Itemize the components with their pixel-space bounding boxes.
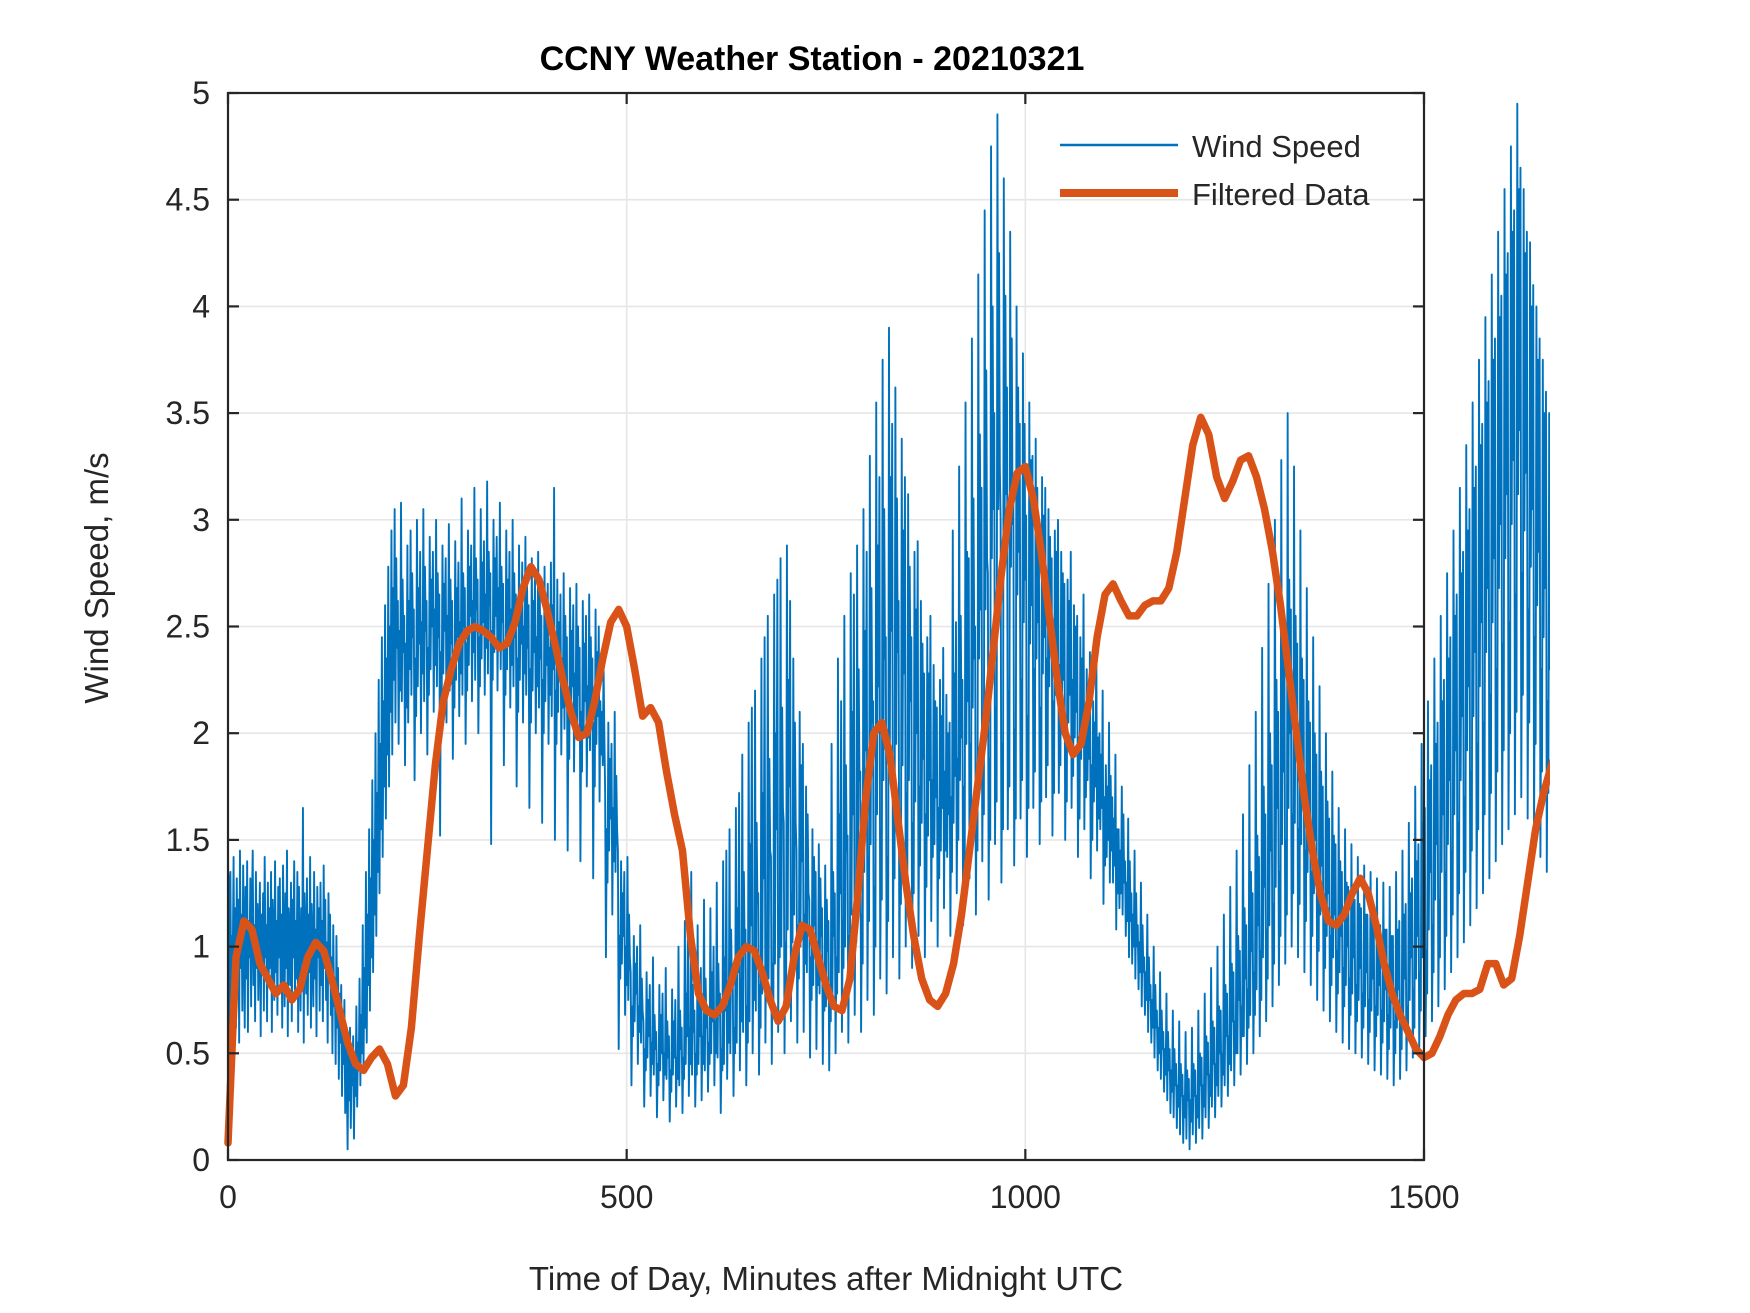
x-tick-label: 500 bbox=[600, 1179, 653, 1215]
y-axis-label: Wind Speed, m/s bbox=[78, 452, 115, 703]
wind-speed-chart: 00.511.522.533.544.55050010001500 Wind S… bbox=[0, 0, 1550, 1313]
y-tick-label: 4.5 bbox=[166, 182, 210, 218]
x-tick-label: 1500 bbox=[1388, 1179, 1459, 1215]
y-tick-label: 2 bbox=[192, 715, 210, 751]
figure-page: 00.511.522.533.544.55050010001500 Wind S… bbox=[0, 0, 1750, 1313]
y-tick-label: 0.5 bbox=[166, 1035, 210, 1071]
x-tick-label: 0 bbox=[219, 1179, 237, 1215]
y-tick-label: 0 bbox=[192, 1142, 210, 1178]
y-tick-label: 1 bbox=[192, 929, 210, 965]
x-tick-label: 1000 bbox=[990, 1179, 1061, 1215]
chart-title: CCNY Weather Station - 20210321 bbox=[540, 40, 1085, 78]
y-tick-label: 4 bbox=[192, 288, 210, 324]
y-tick-label: 3 bbox=[192, 502, 210, 538]
chart-figure: 00.511.522.533.544.55050010001500 Wind S… bbox=[0, 0, 1550, 1313]
y-tick-label: 1.5 bbox=[166, 822, 210, 858]
x-axis-label: Time of Day, Minutes after Midnight UTC bbox=[529, 1260, 1123, 1297]
y-tick-label: 3.5 bbox=[166, 395, 210, 431]
y-tick-label: 5 bbox=[192, 75, 210, 111]
legend-label-filtered-data: Filtered Data bbox=[1192, 177, 1370, 212]
legend-label-wind-speed: Wind Speed bbox=[1192, 129, 1361, 164]
y-tick-label: 2.5 bbox=[166, 609, 210, 645]
